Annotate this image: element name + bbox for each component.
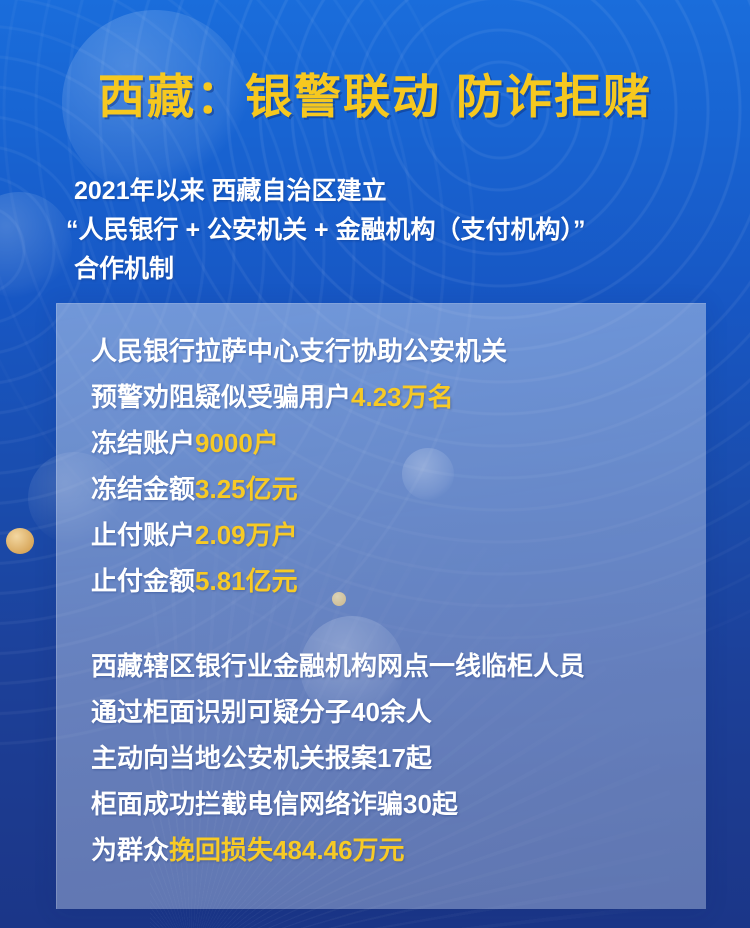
stat-line-text: 止付金额 (91, 566, 195, 596)
stat-line-highlight: 9000户 (195, 428, 279, 458)
stats-block-bank-branches: 西藏辖区银行业金融机构网点一线临柜人员通过柜面识别可疑分子40余人主动向当地公安… (91, 643, 585, 873)
content-panel-inner: 人民银行拉萨中心支行协助公安机关预警劝阻疑似受骗用户4.23万名冻结账户9000… (57, 304, 706, 909)
stat-line: 止付账户2.09万户 (91, 512, 507, 558)
stat-line: 冻结金额3.25亿元 (91, 466, 507, 512)
page-title: 西藏：银警联动 防诈拒赌 (0, 72, 750, 123)
subtitle-line-1: 2021年以来 西藏自治区建立 (74, 172, 694, 211)
stat-line: 预警劝阻疑似受骗用户4.23万名 (91, 374, 507, 420)
content-panel: 人民银行拉萨中心支行协助公安机关预警劝阻疑似受骗用户4.23万名冻结账户9000… (56, 303, 706, 909)
stat-line: 主动向当地公安机关报案17起 (91, 735, 585, 781)
gold-dot-left-icon (6, 528, 34, 554)
stat-line-text: 主动向当地公安机关报案17起 (91, 743, 432, 773)
stat-line-text: 通过柜面识别可疑分子40余人 (91, 697, 432, 727)
stat-line: 通过柜面识别可疑分子40余人 (91, 689, 585, 735)
stat-line-text: 为群众 (91, 835, 169, 865)
decorative-circle-left-icon (0, 192, 72, 298)
stat-line-text: 止付账户 (91, 520, 195, 550)
subtitle-line-2: “人民银行 + 公安机关 + 金融机构（支付机构）” (66, 211, 694, 250)
stat-line-text: 预警劝阻疑似受骗用户 (91, 382, 351, 412)
stat-line: 柜面成功拦截电信网络诈骗30起 (91, 781, 585, 827)
stat-line-text: 柜面成功拦截电信网络诈骗30起 (91, 789, 458, 819)
stat-line: 止付金额5.81亿元 (91, 558, 507, 604)
stat-line-text: 冻结账户 (91, 428, 195, 458)
stats-block-central-bank: 人民银行拉萨中心支行协助公安机关预警劝阻疑似受骗用户4.23万名冻结账户9000… (91, 328, 507, 604)
stat-line: 西藏辖区银行业金融机构网点一线临柜人员 (91, 643, 585, 689)
stat-line-text: 西藏辖区银行业金融机构网点一线临柜人员 (91, 651, 585, 681)
stat-line: 为群众挽回损失484.46万元 (91, 827, 585, 873)
stat-line-highlight: 挽回损失484.46万元 (169, 835, 405, 865)
stat-line: 冻结账户9000户 (91, 420, 507, 466)
stat-line-highlight: 3.25亿元 (195, 474, 298, 504)
poster-canvas: 西藏：银警联动 防诈拒赌 2021年以来 西藏自治区建立 “人民银行 + 公安机… (0, 0, 750, 928)
stat-line-highlight: 4.23万名 (351, 382, 454, 412)
subtitle-line-3: 合作机制 (74, 250, 694, 289)
stat-line-highlight: 2.09万户 (195, 520, 298, 550)
stat-line-highlight: 5.81亿元 (195, 566, 298, 596)
stat-line: 人民银行拉萨中心支行协助公安机关 (91, 328, 507, 374)
subtitle-block: 2021年以来 西藏自治区建立 “人民银行 + 公安机关 + 金融机构（支付机构… (74, 172, 694, 289)
stat-line-text: 冻结金额 (91, 474, 195, 504)
stat-line-text: 人民银行拉萨中心支行协助公安机关 (91, 336, 507, 366)
